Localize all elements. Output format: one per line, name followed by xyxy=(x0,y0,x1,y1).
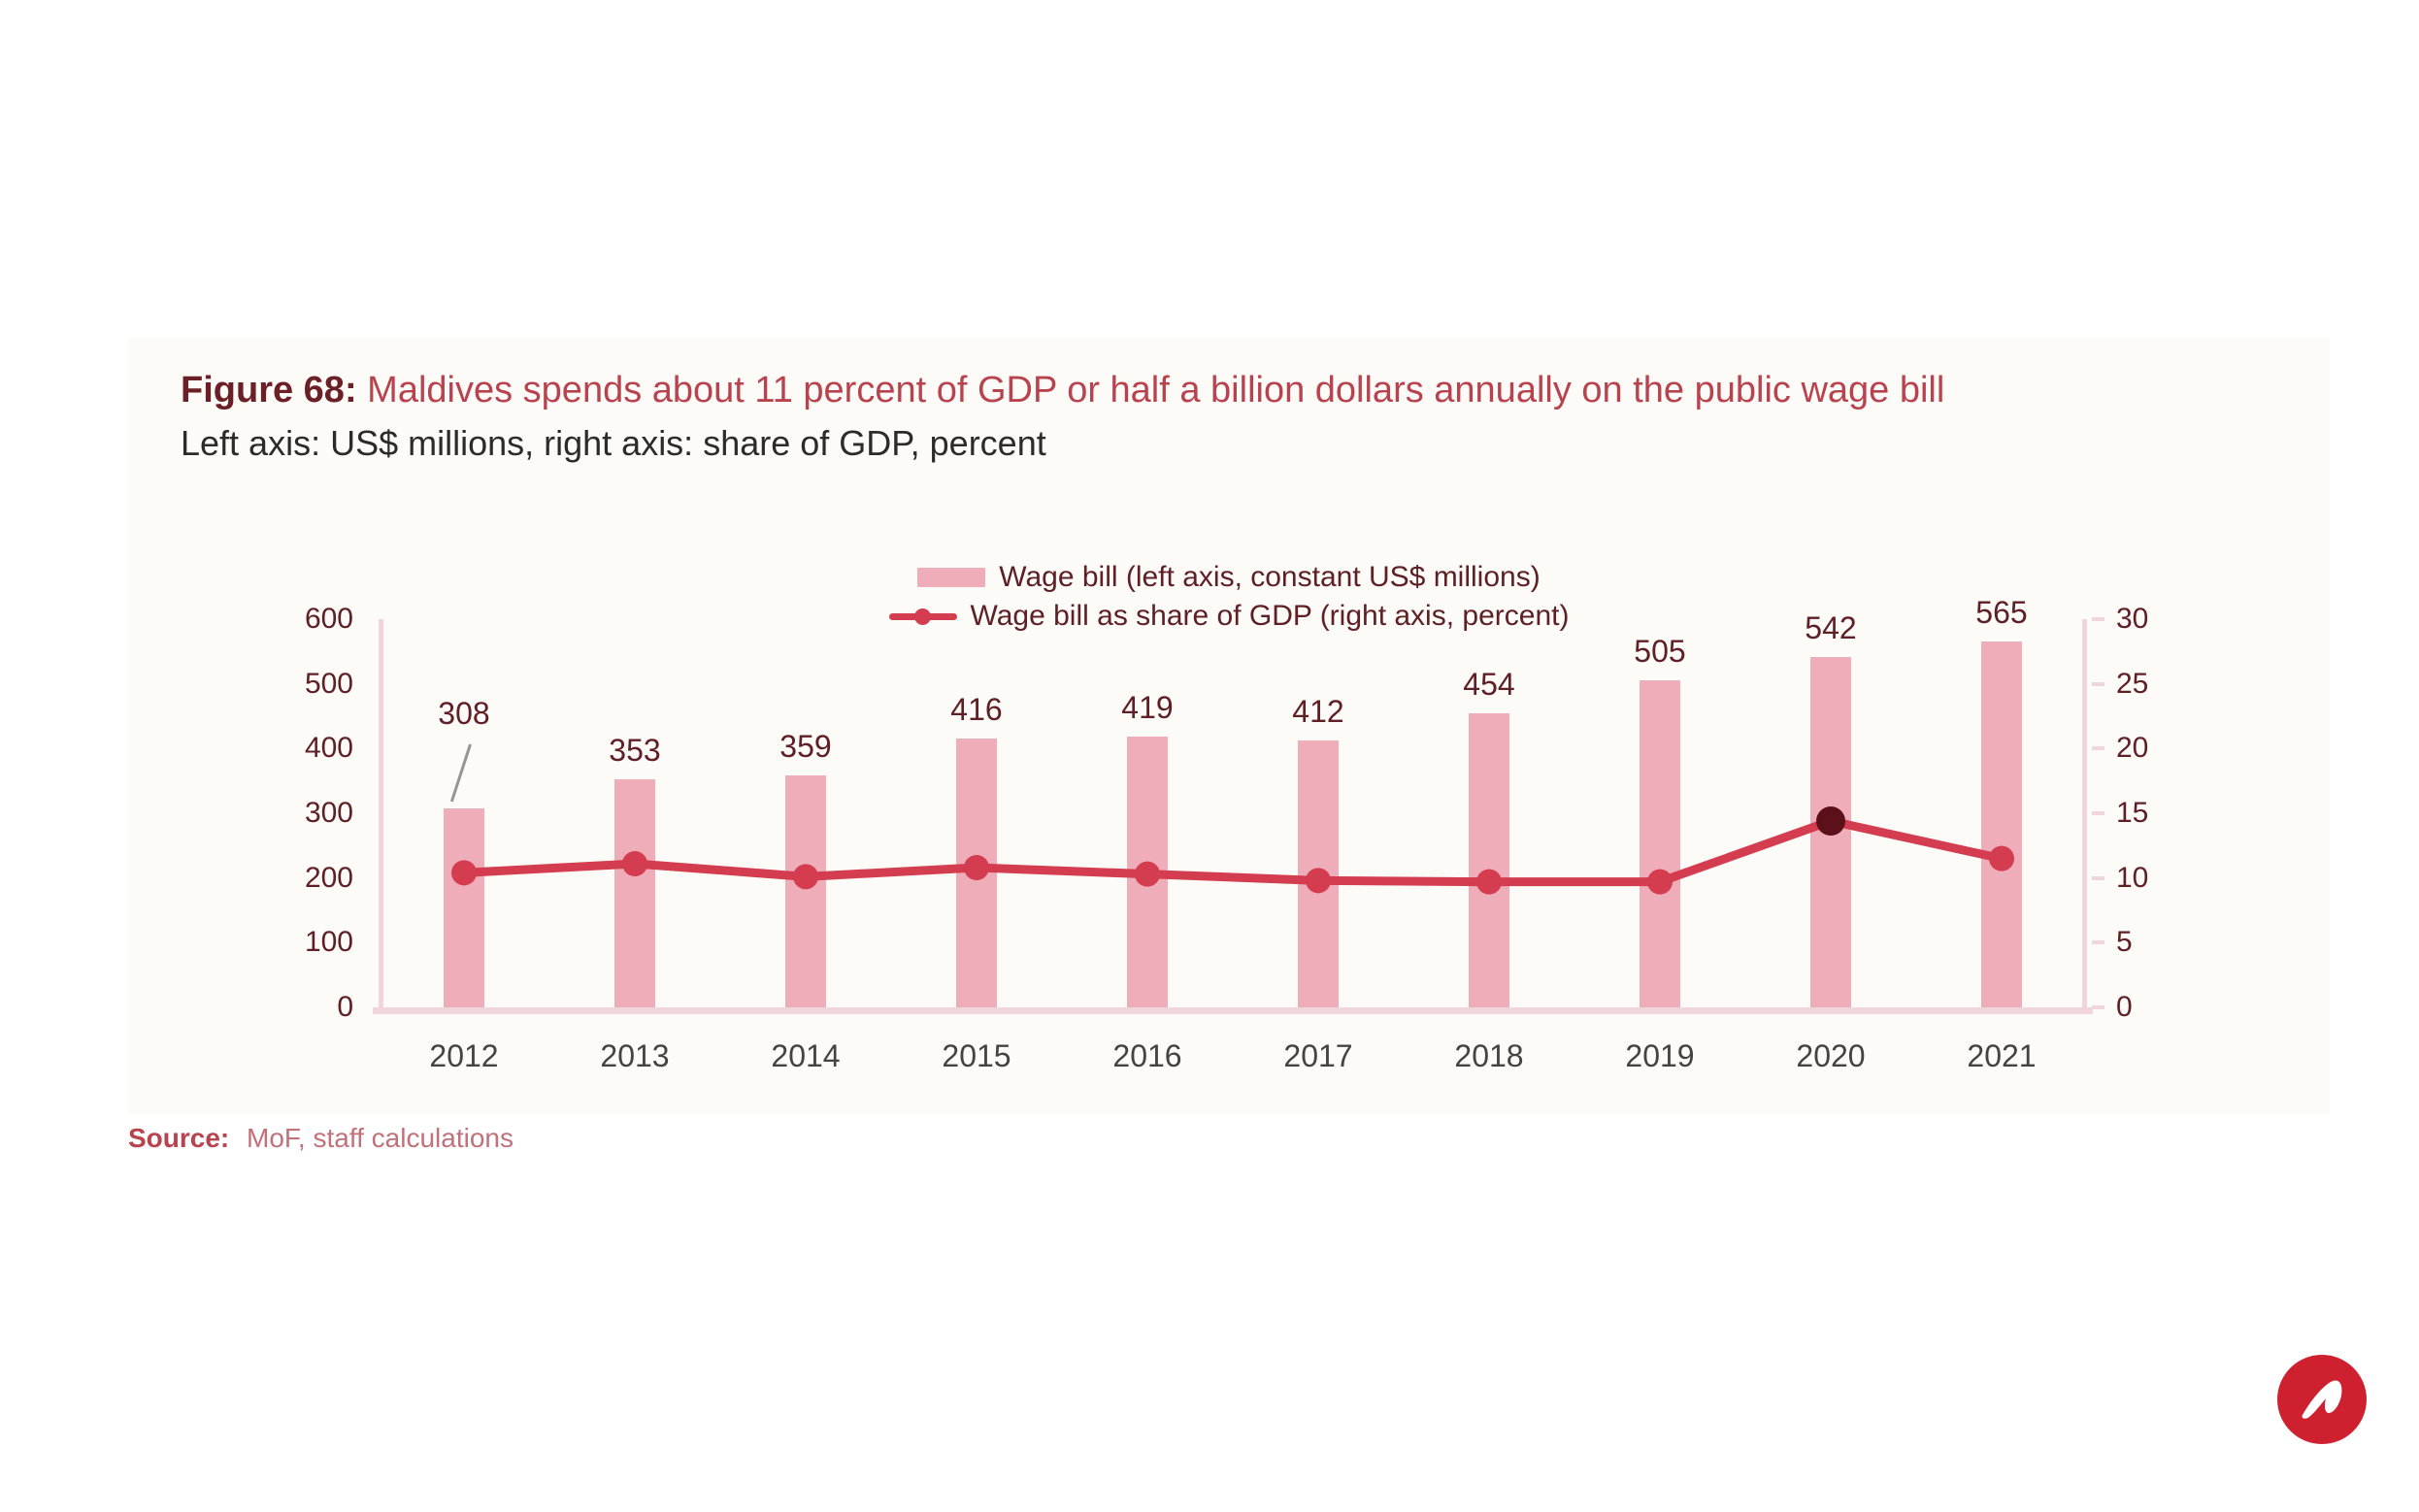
bar-swatch-icon xyxy=(917,568,985,587)
x-axis-tick-2015: 2015 xyxy=(942,1038,1011,1074)
plot-frame: 0100200300400500600 051015202530 3083533… xyxy=(379,619,2087,1012)
y-axis-right-tick-5: 5 xyxy=(2116,928,2133,957)
figure-number: Figure 68: xyxy=(181,370,357,411)
bar-2020[interactable] xyxy=(1810,657,1851,1007)
bar-2012[interactable] xyxy=(444,808,484,1007)
y-axis-left-tick-0: 0 xyxy=(337,993,353,1022)
x-axis-tick-2020: 2020 xyxy=(1796,1038,1865,1074)
swoosh-logo-glyph xyxy=(2277,1355,2367,1444)
bar-value-label-2021: 565 xyxy=(1975,595,2027,631)
x-axis-tick-2017: 2017 xyxy=(1283,1038,1352,1074)
bar-2015[interactable] xyxy=(956,739,997,1007)
y-axis-left-tick-100: 100 xyxy=(305,928,353,957)
bar-value-label-2019: 505 xyxy=(1634,634,1685,670)
swoosh-logo[interactable] xyxy=(2277,1355,2367,1444)
y-axis-right-tick-20: 20 xyxy=(2116,734,2148,763)
y-axis-left-spine xyxy=(379,619,383,1007)
x-axis-tick-2021: 2021 xyxy=(1967,1038,2036,1074)
y-axis-left-tick-400: 400 xyxy=(305,734,353,763)
title-block: Figure 68: Maldives spends about 11 perc… xyxy=(181,365,2297,468)
bar-2018[interactable] xyxy=(1469,713,1509,1007)
bar-2019[interactable] xyxy=(1640,680,1680,1007)
y-axis-left-tick-600: 600 xyxy=(305,605,353,634)
bar-value-label-2017: 412 xyxy=(1292,694,1343,730)
source-line: Source: MoF, staff calculations xyxy=(128,1123,514,1154)
y-axis-left-tick-200: 200 xyxy=(305,864,353,893)
y-axis-right-tick-25: 25 xyxy=(2116,670,2148,699)
y-axis-right-tickmark-10 xyxy=(2092,876,2104,880)
x-axis-tick-2018: 2018 xyxy=(1454,1038,1523,1074)
bar-2021[interactable] xyxy=(1981,641,2022,1007)
y-axis-right-tick-15: 15 xyxy=(2116,799,2148,828)
bar-2017[interactable] xyxy=(1298,740,1339,1007)
y-axis-right-tick-30: 30 xyxy=(2116,605,2148,634)
y-axis-right-tick-0: 0 xyxy=(2116,993,2133,1022)
bar-value-label-2012: 308 xyxy=(438,696,489,732)
x-axis-baseline xyxy=(373,1007,2093,1014)
figure-card: Figure 68: Maldives spends about 11 perc… xyxy=(128,338,2330,1114)
bar-value-label-2018: 454 xyxy=(1463,667,1514,703)
bar-value-label-2020: 542 xyxy=(1805,610,1856,646)
legend-label-wage-bill: Wage bill (left axis, constant US$ milli… xyxy=(999,561,1540,594)
bar-value-label-2013: 353 xyxy=(609,733,660,769)
line-path-share-of-gdp xyxy=(464,821,2002,882)
y-axis-left-tick-500: 500 xyxy=(305,670,353,699)
y-axis-right-tickmark-15 xyxy=(2092,811,2104,815)
figure-title: Figure 68: Maldives spends about 11 perc… xyxy=(181,365,2297,415)
figure-title-text: Maldives spends about 11 percent of GDP … xyxy=(367,370,1944,411)
x-axis-tick-2013: 2013 xyxy=(600,1038,669,1074)
y-axis-right-tick-10: 10 xyxy=(2116,864,2148,893)
bar-value-label-2015: 416 xyxy=(950,692,1002,728)
y-axis-right-spine xyxy=(2082,619,2087,1007)
bar-value-label-2016: 419 xyxy=(1121,690,1173,726)
source-label: Source: xyxy=(128,1123,229,1153)
plot-area: 0100200300400500600 051015202530 3083533… xyxy=(379,619,2087,1012)
x-axis-tick-2016: 2016 xyxy=(1112,1038,1181,1074)
y-axis-right-tickmark-25 xyxy=(2092,682,2104,686)
figure-subtitle: Left axis: US$ millions, right axis: sha… xyxy=(181,419,2297,468)
x-axis-tick-2019: 2019 xyxy=(1625,1038,1694,1074)
x-axis-tick-2014: 2014 xyxy=(771,1038,840,1074)
bar-2014[interactable] xyxy=(785,775,826,1007)
x-axis-tick-2012: 2012 xyxy=(429,1038,498,1074)
y-axis-left-tick-300: 300 xyxy=(305,799,353,828)
y-axis-right-tickmark-20 xyxy=(2092,746,2104,750)
bar-2013[interactable] xyxy=(614,779,655,1007)
y-axis-right-tickmark-5 xyxy=(2092,940,2104,944)
y-axis-right-tickmark-0 xyxy=(2092,1005,2104,1009)
bar-2016[interactable] xyxy=(1127,737,1168,1007)
y-axis-right-tickmark-30 xyxy=(2092,617,2104,621)
leader-line-2012 xyxy=(450,743,472,802)
source-text: MoF, staff calculations xyxy=(247,1123,514,1153)
bar-value-label-2014: 359 xyxy=(779,729,831,765)
legend-item-wage-bill[interactable]: Wage bill (left axis, constant US$ milli… xyxy=(917,561,1540,594)
